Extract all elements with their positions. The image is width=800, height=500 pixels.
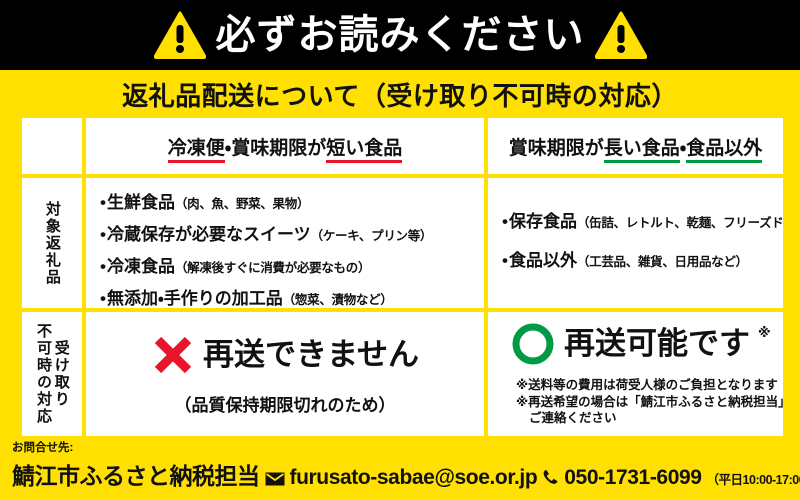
bullet-dot: • [502,252,508,269]
contact-phone[interactable]: 050-1731-6099 [564,466,701,490]
bullet-dot: • [100,226,106,243]
header-term-expiry-2: 賞味期限が [509,138,604,159]
header-term-long-food: 長い食品 [604,138,680,163]
bullet-dot: • [100,194,106,211]
response-asterisk: ※ [758,325,771,341]
table-corner-cell [22,118,82,174]
envelope-icon [265,472,285,491]
phone-icon [542,469,559,491]
circle-mark-icon [510,321,556,367]
list-item: • 冷凍食品 （解凍後すぐに消費が必要なもの） [100,252,476,277]
header-term-short-food: 短い食品 [326,138,402,163]
contact-footer: お問合せ先: 鯖江市ふるさと納税担当 furusato-sabae@soe.or… [0,440,800,500]
contact-row: 鯖江市ふるさと納税担当 furusato-sabae@soe.or.jp 050… [12,457,790,491]
page-title: 必ずお読みください [216,15,585,55]
table-row: 受け取り 不可時の対応 再送できません （品質 [22,312,783,436]
contact-label: お問合せ先: [12,442,790,456]
row-label-text-col1: 受け取り [53,340,69,408]
header-term-frozen: 冷凍便 [168,138,225,163]
table-row: 対象返礼品 • 生鮮食品 （肉、魚、野菜、果物） • 冷蔵保存が必要なスイーツ … [22,178,783,308]
response-notes: ※送料等の費用は荷受人様のご負担となります ※再送希望の場合は「鯖江市ふるさと納… [510,377,775,428]
row-label-undelivered-response: 受け取り 不可時の対応 [22,312,82,436]
table-header-row: 冷凍便・賞味期限が短い食品 賞味期限が長い食品・食品以外 [22,118,783,174]
info-table: 冷凍便・賞味期限が短い食品 賞味期限が長い食品・食品以外 対象返礼品 [22,118,783,436]
header-banner: 必ずお読みください [0,0,800,70]
header-term-non-food: 食品以外 [686,138,762,163]
bullet-dot: • [100,290,106,307]
row-label-text: 対象返礼品 [44,201,60,286]
list-item: • 無添加・手作りの加工品 （惣菜、漬物など） [100,284,476,308]
list-item: • 食品以外 （工芸品、雑貨、日用品など） [502,246,775,271]
note-line: ※再送希望の場合は「鯖江市ふるさと納税担当」まで [516,394,775,411]
column-header-short-shelf-life: 冷凍便・賞味期限が短い食品 [86,118,484,174]
response-cannot-resend: 再送できません （品質保持期限切れのため） [86,312,484,436]
response-subnote: （品質保持期限切れのため） [175,391,396,416]
list-item: • 保存食品 （缶詰、レトルト、乾麺、フリーズドライ） [502,207,775,232]
list-item: • 生鮮食品 （肉、魚、野菜、果物） [100,188,476,213]
note-line: ※送料等の費用は荷受人様のご負担となります [516,377,775,394]
response-headline: 再送可能です [564,328,750,359]
bullet-dot: • [100,258,106,275]
contact-email[interactable]: furusato-sabae@soe.or.jp [290,466,538,490]
contact-department: 鯖江市ふるさと納税担当 [12,457,260,491]
list-item: • 冷蔵保存が必要なスイーツ （ケーキ、プリン等） [100,220,476,245]
warning-triangle-icon [595,11,647,59]
response-can-resend: 再送可能です ※ ※送料等の費用は荷受人様のご負担となります ※再送希望の場合は… [488,312,783,436]
warning-triangle-icon [154,11,206,59]
header-term-expiry: 賞味期限が [231,138,326,159]
target-gifts-right-list: • 保存食品 （缶詰、レトルト、乾麺、フリーズドライ） • 食品以外 （工芸品、… [488,178,783,308]
contact-hours: （平日10:00-17:00対応） [707,469,800,488]
subtitle-band: 返礼品配送について（受け取り不可時の対応） [0,70,800,118]
column-header-long-shelf-life: 賞味期限が長い食品・食品以外 [488,118,783,174]
note-line: ご連絡ください [516,410,775,427]
response-headline: 再送できません [203,339,419,370]
target-gifts-left-list: • 生鮮食品 （肉、魚、野菜、果物） • 冷蔵保存が必要なスイーツ （ケーキ、プ… [86,178,484,308]
subtitle-text: 返礼品配送について（受け取り不可時の対応） [122,76,678,113]
row-label-target-gifts: 対象返礼品 [22,178,82,308]
poster-root: 必ずお読みください 返礼品配送について（受け取り不可時の対応） 冷凍便・賞味期限… [0,0,800,500]
bullet-dot: • [502,213,508,230]
cross-mark-icon [151,333,195,377]
row-label-text-col2: 不可時の対応 [35,323,51,425]
